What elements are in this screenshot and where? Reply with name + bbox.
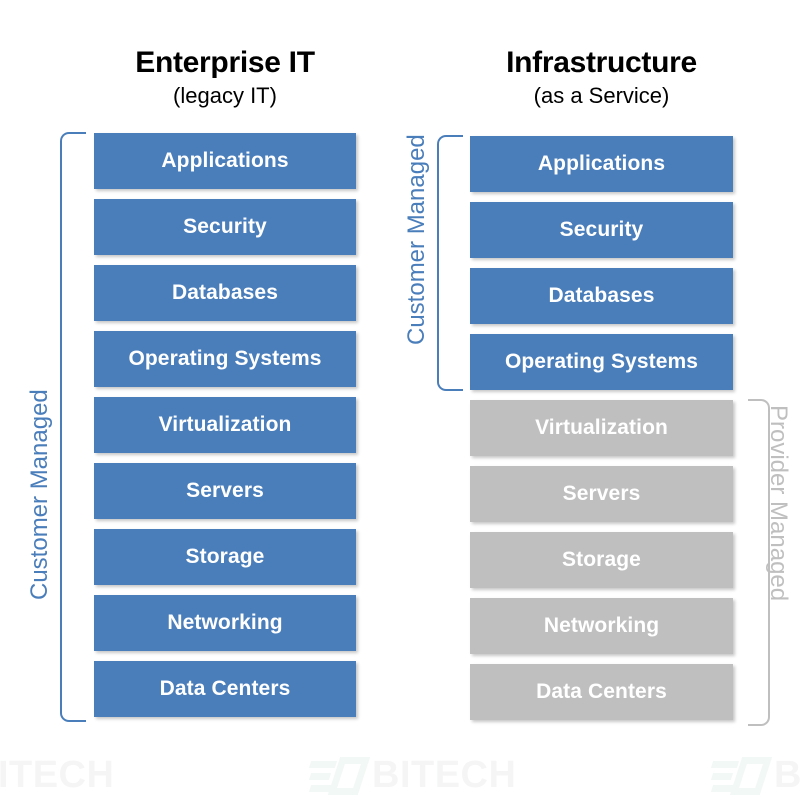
layer-box[interactable]: Security xyxy=(94,199,356,255)
label-iaas-customer-managed: Customer Managed xyxy=(405,134,429,345)
watermark: BITECH xyxy=(310,754,516,797)
stack-enterprise-it: Applications Security Databases Operatin… xyxy=(94,133,356,717)
watermark-text: BITECH xyxy=(372,754,516,797)
layer-box[interactable]: Storage xyxy=(94,529,356,585)
watermark-text: BITECH xyxy=(774,754,803,797)
column-title-enterprise-it: Enterprise IT xyxy=(94,48,356,78)
layer-box[interactable]: Storage xyxy=(470,532,733,588)
layer-label: Storage xyxy=(186,545,265,569)
layer-label: Applications xyxy=(538,152,665,176)
stack-infrastructure-as-a-service: Applications Security Databases Operatin… xyxy=(470,136,733,720)
layer-label: Security xyxy=(183,215,267,239)
layer-label: Networking xyxy=(544,614,659,638)
layer-box[interactable]: Servers xyxy=(470,466,733,522)
layer-box[interactable]: Servers xyxy=(94,463,356,519)
layer-label: Databases xyxy=(549,284,655,308)
column-heading-enterprise-it: Enterprise IT (legacy IT) xyxy=(94,48,356,107)
watermark: BITECH xyxy=(712,754,803,797)
column-title-infrastructure: Infrastructure xyxy=(470,48,733,78)
layer-label: Security xyxy=(560,218,644,242)
layer-label: Virtualization xyxy=(535,416,668,440)
watermark: BITECH xyxy=(0,754,114,797)
layer-box[interactable]: Applications xyxy=(470,136,733,192)
watermark-strip: BITECH BITECH BITECH xyxy=(0,742,803,805)
bracket-iaas-customer-managed xyxy=(437,135,463,391)
layer-label: Networking xyxy=(167,611,282,635)
layer-box[interactable]: Virtualization xyxy=(94,397,356,453)
label-iaas-provider-managed: Provider Managed xyxy=(766,405,790,601)
layer-label: Applications xyxy=(161,149,288,173)
bitech-logo-icon xyxy=(712,755,768,797)
layer-label: Servers xyxy=(186,479,264,503)
layer-box[interactable]: Networking xyxy=(94,595,356,651)
layer-label: Storage xyxy=(562,548,641,572)
label-enterprise-customer-managed: Customer Managed xyxy=(28,389,52,600)
layer-box[interactable]: Databases xyxy=(94,265,356,321)
layer-label: Virtualization xyxy=(159,413,292,437)
layer-label: Servers xyxy=(563,482,641,506)
column-heading-infrastructure: Infrastructure (as a Service) xyxy=(470,48,733,107)
diagram-canvas: Enterprise IT (legacy IT) Infrastructure… xyxy=(0,0,803,805)
layer-box[interactable]: Operating Systems xyxy=(94,331,356,387)
layer-box[interactable]: Security xyxy=(470,202,733,258)
layer-label: Data Centers xyxy=(160,677,291,701)
column-subtitle-infrastructure: (as a Service) xyxy=(470,85,733,107)
layer-box[interactable]: Virtualization xyxy=(470,400,733,456)
bracket-enterprise-customer-managed xyxy=(60,132,86,722)
layer-box[interactable]: Data Centers xyxy=(94,661,356,717)
layer-label: Data Centers xyxy=(536,680,667,704)
layer-label: Operating Systems xyxy=(505,350,698,374)
layer-box[interactable]: Networking xyxy=(470,598,733,654)
column-subtitle-enterprise-it: (legacy IT) xyxy=(94,85,356,107)
layer-box[interactable]: Databases xyxy=(470,268,733,324)
layer-label: Operating Systems xyxy=(128,347,321,371)
layer-box[interactable]: Applications xyxy=(94,133,356,189)
layer-box[interactable]: Operating Systems xyxy=(470,334,733,390)
bitech-logo-icon xyxy=(310,755,366,797)
watermark-text: BITECH xyxy=(0,754,114,797)
layer-label: Databases xyxy=(172,281,278,305)
layer-box[interactable]: Data Centers xyxy=(470,664,733,720)
